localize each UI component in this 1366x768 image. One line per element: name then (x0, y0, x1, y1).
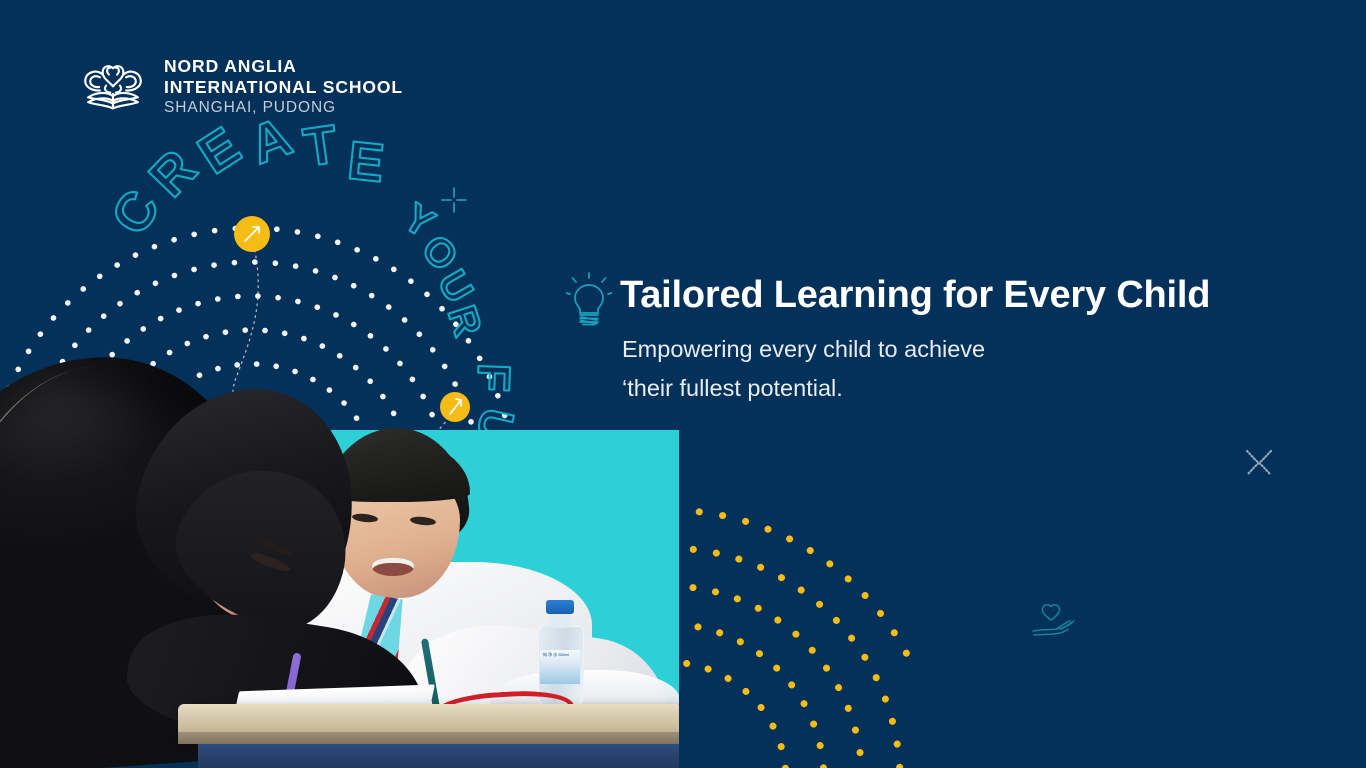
subcopy-line-1: Empowering every child to achieve (622, 330, 1320, 369)
hero-message: Tailored Learning for Every Child Empowe… (620, 272, 1320, 408)
hero-photo-teacher-and-student: 纯 净 水 550ml (0, 300, 680, 768)
school-logo[interactable]: NORD ANGLIA INTERNATIONAL SCHOOL SHANGHA… (78, 56, 403, 118)
lightbulb-icon (566, 272, 612, 330)
desk-edge (178, 732, 680, 744)
water-bottle-cap (546, 600, 574, 614)
svg-text:T: T (300, 114, 341, 178)
student-mouth (372, 558, 414, 576)
crown-over-open-book-logo (78, 58, 148, 116)
sparkle-x-icon (1240, 444, 1278, 482)
logo-line-international-school: INTERNATIONAL SCHOOL (164, 77, 403, 98)
desk-front-panel (198, 744, 680, 768)
hero-subcopy: Empowering every child to achieve ‘their… (622, 330, 1320, 408)
hero-slide: C R E A T E Y O U R F U T U R E (0, 0, 1366, 768)
water-bottle-label: 纯 净 水 550ml (540, 650, 580, 684)
logo-line-campus: SHANGHAI, PUDONG (164, 98, 403, 118)
hand-holding-heart-icon (1030, 600, 1078, 644)
logo-wordmark: NORD ANGLIA INTERNATIONAL SCHOOL SHANGHA… (164, 56, 403, 118)
sparkle-four-point-icon (440, 186, 468, 214)
water-bottle-neck (550, 612, 570, 628)
desk-top (178, 704, 680, 734)
subcopy-line-2: ‘their fullest potential. (622, 369, 1320, 408)
arrow-up-right-badge-1 (234, 216, 270, 252)
page-title: Tailored Learning for Every Child (620, 272, 1320, 318)
logo-line-nord-anglia: NORD ANGLIA (164, 56, 403, 77)
svg-text:E: E (345, 130, 387, 193)
